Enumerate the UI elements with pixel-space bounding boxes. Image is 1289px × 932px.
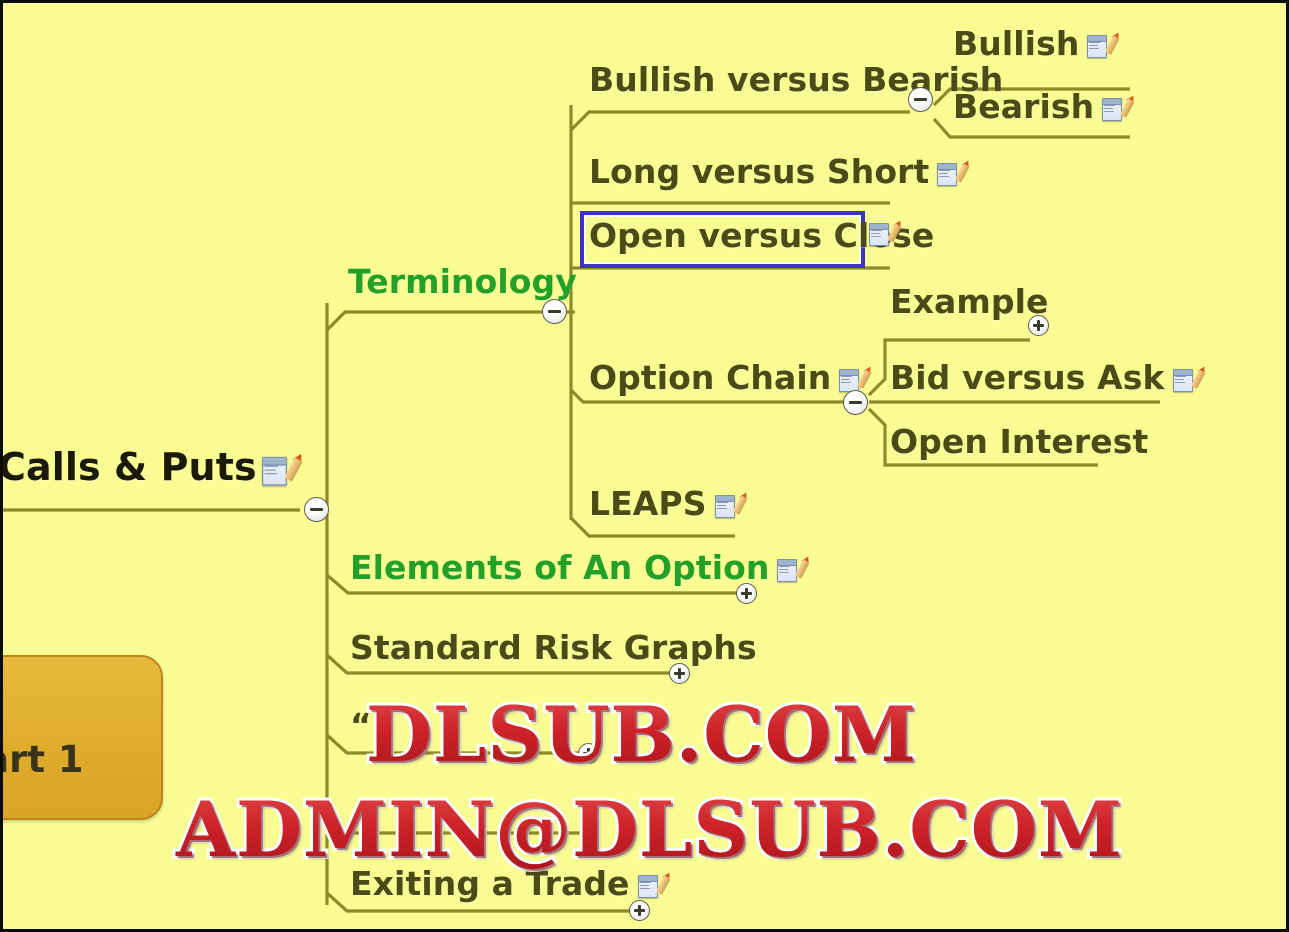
node-calls-and-puts[interactable]: Calls & Puts [0, 445, 290, 489]
toggle-bullish-versus-bearish[interactable] [908, 87, 933, 112]
node-label-open-interest: Open Interest [890, 422, 1148, 461]
note-icon[interactable] [776, 554, 802, 581]
node-standard-risk-graphs[interactable]: Standard Risk Graphs [350, 628, 757, 667]
node-bullish[interactable]: Bullish [953, 24, 1112, 63]
node-terminology[interactable]: Terminology [348, 262, 577, 301]
toggle-elements-of-an-option[interactable] [736, 583, 757, 604]
note-icon[interactable] [637, 870, 663, 897]
node-label-example: Example [890, 282, 1049, 321]
node-bid-versus-ask[interactable]: Bid versus Ask [890, 358, 1198, 397]
node-label-bid-versus-ask: Bid versus Ask [890, 358, 1165, 397]
node-label-elements-of-an-option: Elements of An Option [350, 548, 769, 587]
node-label-bullish-versus-bearish: Bullish versus Bearish [589, 60, 1003, 99]
node-example[interactable]: Example [890, 282, 1049, 321]
node-leaps[interactable]: LEAPS [589, 484, 740, 523]
toggle-example[interactable] [1028, 315, 1049, 336]
note-icon[interactable] [260, 450, 293, 484]
root-card-line-1: 2 [0, 694, 161, 738]
note-icon[interactable] [1086, 30, 1112, 57]
node-open-interest[interactable]: Open Interest [890, 422, 1148, 461]
node-label-terminology: Terminology [348, 262, 577, 301]
node-open-versus-close-note[interactable] [868, 218, 894, 245]
toggle-exiting-a-trade[interactable] [629, 900, 650, 921]
note-icon[interactable] [1172, 364, 1198, 391]
node-label-standard-risk-graphs: Standard Risk Graphs [350, 628, 757, 667]
node-option-chain[interactable]: Option Chain [589, 358, 864, 397]
node-label-leaps: LEAPS [589, 484, 707, 523]
node-label-bullish: Bullish [953, 24, 1079, 63]
root-card[interactable]: 2 Part 1 [0, 655, 163, 820]
node-label-long-versus-short: Long versus Short [589, 152, 929, 191]
note-icon[interactable] [1101, 93, 1127, 120]
toggle-calls-and-puts[interactable] [304, 497, 329, 522]
node-label-calls-and-puts: Calls & Puts [0, 445, 257, 489]
note-icon[interactable] [936, 158, 962, 185]
node-elements-of-an-option[interactable]: Elements of An Option [350, 548, 802, 587]
toggle-standard-risk-graphs[interactable] [669, 663, 690, 684]
node-label-option-chain: Option Chain [589, 358, 831, 397]
node-long-versus-short[interactable]: Long versus Short [589, 152, 962, 191]
watermark-site-fill-text: DLSUB.COM [366, 690, 917, 779]
watermark-site-fill: DLSUB.COM [366, 690, 917, 779]
watermark-email-fill-text: ADMIN@DLSUB.COM [176, 785, 1123, 874]
node-label-bearish: Bearish [953, 87, 1094, 126]
toggle-terminology[interactable] [542, 299, 567, 324]
note-icon[interactable] [868, 218, 894, 245]
root-card-line-2: Part 1 [0, 738, 161, 782]
toggle-option-chain[interactable] [843, 390, 868, 415]
watermark-email-fill: ADMIN@DLSUB.COM [176, 785, 1123, 874]
note-icon[interactable] [838, 364, 864, 391]
node-bullish-versus-bearish[interactable]: Bullish versus Bearish [589, 60, 1003, 99]
mindmap-canvas: 2 Part 1 Calls & Puts Terminology Bullis… [0, 0, 1289, 932]
node-bearish[interactable]: Bearish [953, 87, 1127, 126]
note-icon[interactable] [714, 490, 740, 517]
